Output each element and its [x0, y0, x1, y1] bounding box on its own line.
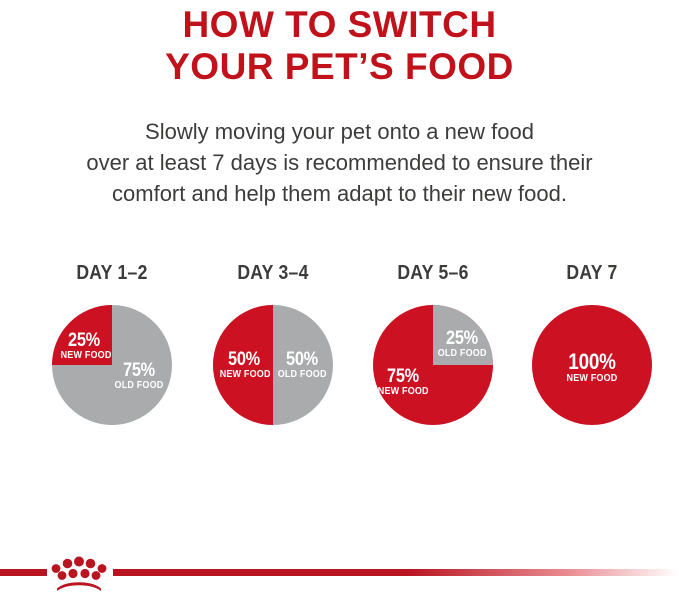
intro-line-2: over at least 7 days is recommended to e… — [0, 147, 679, 178]
pie-slice-old-food — [433, 305, 493, 365]
page-title-line-1: HOW TO SWITCH — [0, 4, 679, 46]
pie-slice-new-food — [213, 305, 273, 425]
page-title: HOW TO SWITCH YOUR PET’S FOOD — [0, 4, 679, 88]
page-title-line-2: YOUR PET’S FOOD — [0, 46, 679, 88]
footer-rule-right — [113, 569, 679, 576]
royal-canin-crown-icon — [46, 555, 112, 591]
pie-svg-day-5-6 — [373, 305, 493, 425]
pie-svg-day-3-4 — [213, 305, 333, 425]
footer-rule-left — [0, 569, 47, 576]
pie-label-day-1-2: DAY 1–2 — [42, 262, 183, 285]
pie-chart-day-3-4: DAY 3–4 50% NEW FOOD 50% OLD FOOD — [193, 262, 353, 437]
pie-graphic-day-5-6: 25% OLD FOOD 75% NEW FOOD — [373, 305, 493, 425]
pie-svg-day-1-2 — [52, 305, 172, 425]
infographic-page: { "title": { "line1": "HOW TO SWITCH", "… — [0, 0, 679, 594]
pie-graphic-day-7: 100% NEW FOOD — [532, 305, 652, 425]
intro-line-1: Slowly moving your pet onto a new food — [0, 116, 679, 147]
pie-graphic-day-3-4: 50% NEW FOOD 50% OLD FOOD — [213, 305, 333, 425]
pie-slice-new-food — [532, 305, 652, 425]
pie-chart-day-1-2: DAY 1–2 25% NEW FOOD 75% OLD FOOD — [32, 262, 192, 437]
pie-label-day-7: DAY 7 — [522, 262, 663, 285]
pie-label-day-5-6: DAY 5–6 — [363, 262, 504, 285]
pie-svg-day-7 — [532, 305, 652, 425]
pie-chart-day-7: DAY 7 100% NEW FOOD — [512, 262, 672, 437]
pie-chart-day-5-6: DAY 5–6 25% OLD FOOD 75% NEW FOOD — [353, 262, 513, 437]
pie-label-day-3-4: DAY 3–4 — [203, 262, 344, 285]
pie-slice-new-food — [52, 305, 112, 365]
pie-graphic-day-1-2: 25% NEW FOOD 75% OLD FOOD — [52, 305, 172, 425]
intro-line-3: comfort and help them adapt to their new… — [0, 178, 679, 209]
footer — [0, 555, 679, 594]
pie-chart-row: DAY 1–2 25% NEW FOOD 75% OLD FOOD DAY 3–… — [0, 262, 679, 437]
intro-paragraph: Slowly moving your pet onto a new food o… — [0, 116, 679, 209]
